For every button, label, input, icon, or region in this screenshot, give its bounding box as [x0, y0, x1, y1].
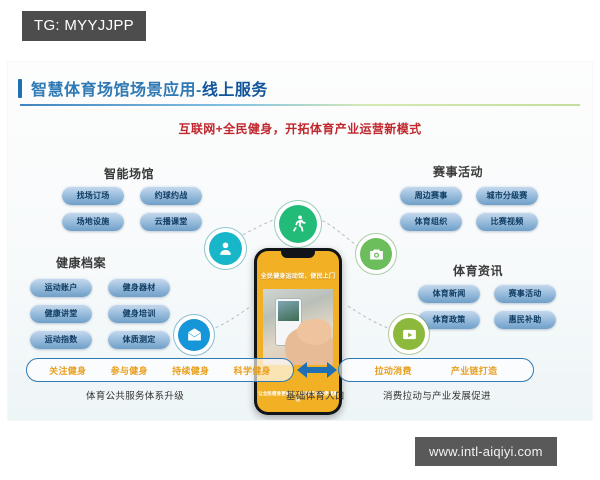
capsule-left-item: 关注健身 [49, 364, 86, 377]
title-emphasis: 线上服务 [202, 82, 268, 99]
camera-icon[interactable] [360, 238, 392, 270]
watermark: www.intl-aiqiyi.com [415, 437, 557, 466]
pill-venue[interactable]: 云播课堂 [140, 212, 202, 231]
bidirectional-arrow-icon [296, 360, 338, 380]
capsule-left-item: 参与健身 [111, 364, 148, 377]
capsule-left: 关注健身 参与健身 持续健身 科学健身 [26, 358, 294, 382]
capsule-left-item: 持续健身 [172, 364, 209, 377]
pill-health[interactable]: 体质测定 [108, 330, 170, 349]
pill-venue[interactable]: 找场订场 [62, 186, 124, 205]
slide-card: 智慧体育场馆场景应用-线上服务 互联网+全民健身，开拓体育产业运营新模式 智能场… [8, 62, 592, 420]
user-icon[interactable] [209, 232, 242, 265]
pill-health[interactable]: 运动指数 [30, 330, 92, 349]
phone-notch [281, 251, 315, 258]
subcaption-right: 消费拉动与产业发展促进 [383, 388, 491, 402]
pill-venue[interactable]: 场地设施 [62, 212, 124, 231]
title-main: 智慧体育场馆场景应用- [31, 82, 202, 99]
pill-news[interactable]: 赛事活动 [494, 284, 556, 303]
photo-hand-secondary [297, 319, 331, 345]
group-title-news: 体育资讯 [453, 262, 503, 279]
capsule-right-item: 产业链打造 [451, 364, 498, 377]
pill-health[interactable]: 健身器材 [108, 278, 170, 297]
headline: 互联网+全民健身，开拓体育产业运营新模式 [8, 120, 592, 137]
capsule-right: 拉动消费 产业链打造 [338, 358, 534, 382]
group-title-health: 健康档案 [56, 254, 106, 271]
pill-news[interactable]: 惠民补助 [494, 310, 556, 329]
pill-news[interactable]: 体育新闻 [418, 284, 480, 303]
subcaption-left: 体育公共服务体系升级 [86, 388, 184, 402]
pill-event[interactable]: 比赛视频 [476, 212, 538, 231]
pill-health[interactable]: 运动账户 [30, 278, 92, 297]
tg-tag: TG: MYYJJPP [22, 11, 146, 41]
pill-event[interactable]: 周边赛事 [400, 186, 462, 205]
phone-photo [263, 289, 333, 365]
title-accent-bar [18, 79, 22, 98]
pill-venue[interactable]: 约球约战 [140, 186, 202, 205]
photo-device-image [278, 301, 299, 321]
group-title-venue: 智能场馆 [104, 165, 154, 182]
pill-health[interactable]: 健身培训 [108, 304, 170, 323]
play-icon[interactable] [393, 318, 425, 350]
subcaption-mid: 基础体育人口 [286, 388, 345, 402]
screenshot-root: TG: MYYJJPP 智慧体育场馆场景应用-线上服务 互联网+全民健身，开拓体… [0, 0, 600, 480]
capsule-right-item: 拉动消费 [375, 364, 412, 377]
running-icon[interactable] [279, 205, 317, 243]
pill-event[interactable]: 体育组织 [400, 212, 462, 231]
page-title: 智慧体育场馆场景应用-线上服务 [18, 76, 268, 100]
group-title-event: 赛事活动 [433, 163, 483, 180]
pill-event[interactable]: 城市分级赛 [476, 186, 538, 205]
pill-health[interactable]: 健康讲堂 [30, 304, 92, 323]
title-divider [20, 104, 580, 106]
phone-headline: 全民健身运动馆，便民上门 [257, 271, 339, 280]
capsule-left-item: 科学健身 [234, 364, 271, 377]
mail-icon[interactable] [178, 319, 210, 351]
